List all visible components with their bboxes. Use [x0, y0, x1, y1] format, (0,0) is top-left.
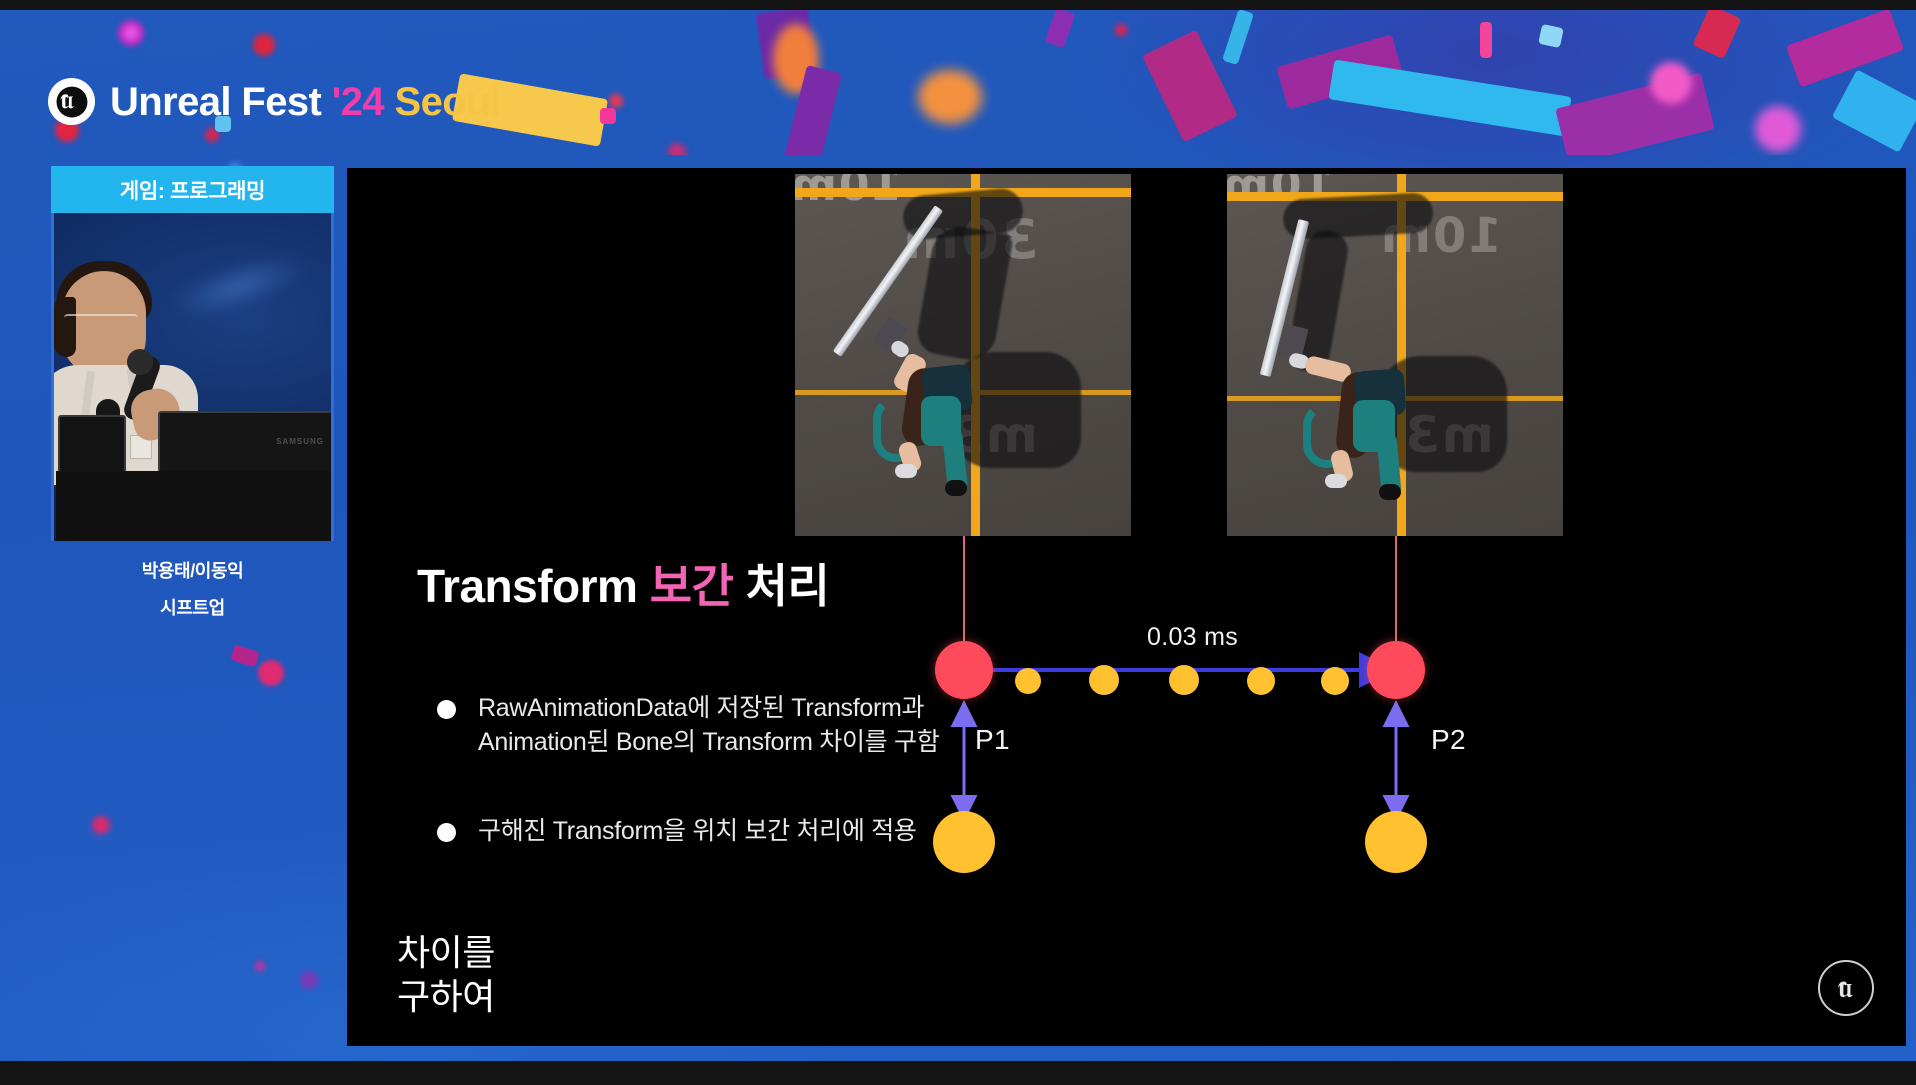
interpolated-node [1089, 665, 1119, 695]
slide-title-highlight: 보간 [650, 560, 734, 612]
character-shadow [951, 352, 1081, 468]
character-boot [945, 480, 967, 496]
gameplay-frame-2: 10m 10m m3 [1227, 174, 1563, 536]
presenter-credits: 박용태/이동익 시프트업 [51, 541, 334, 620]
unreal-u-icon [48, 78, 95, 125]
pose-node-p1 [933, 811, 995, 873]
character-boot [895, 464, 917, 478]
subtitle-caption: 차이를 구하여 [383, 923, 507, 1029]
presenter-hair-side [54, 297, 76, 357]
presenter-glasses [64, 314, 138, 327]
pose-label-p1: P1 [975, 724, 1010, 756]
interpolated-node [1321, 667, 1349, 695]
presenter-video: SAMSUNG [51, 213, 334, 541]
caption-line-2: 구하여 [397, 975, 495, 1019]
interpolated-node [1247, 667, 1275, 695]
pose-node-p2 [1365, 811, 1427, 873]
keyframe-node-start [935, 641, 993, 699]
unreal-engine-icon [1818, 960, 1874, 1016]
slide-title-tail: 처리 [733, 560, 829, 612]
event-brand-lockup: Unreal Fest '24 Seoul [48, 78, 500, 125]
brand-text-unreal-fest: Unreal Fest [110, 80, 321, 124]
microphone-head [127, 349, 153, 375]
bullet-text: RawAnimationData에 저장된 Transform과 Animati… [478, 691, 957, 760]
list-item: RawAnimationData에 저장된 Transform과 Animati… [437, 691, 957, 760]
screenshot-root: Unreal Fest '24 Seoul 게임: 프로그래밍 [0, 0, 1916, 1085]
slide-title: Transform 보간 처리 [417, 563, 829, 609]
character-boot [1379, 484, 1401, 500]
bottom-letterbox-bar [0, 1061, 1916, 1073]
bullet-dot-icon [437, 700, 456, 719]
character-boot [1325, 474, 1347, 488]
laptop-left [58, 415, 126, 473]
conference-frame: Unreal Fest '24 Seoul 게임: 프로그래밍 [0, 10, 1916, 1073]
pose-label-p2: P2 [1431, 724, 1466, 756]
duration-label: 0.03 ms [1147, 623, 1238, 652]
presenter-company: 시프트업 [51, 594, 334, 620]
stage-desk [56, 471, 333, 541]
track-chip-label: 게임: 프로그래밍 [120, 175, 265, 205]
brand-wordmark: Unreal Fest '24 Seoul [110, 82, 500, 122]
laptop-right: SAMSUNG [158, 411, 334, 473]
keyframe-node-end [1367, 641, 1425, 699]
interpolated-node [1169, 665, 1199, 695]
presenter-names: 박용태/이동익 [51, 557, 334, 583]
gameplay-image-1: 10m 30m m3 [795, 174, 1131, 536]
presentation-slide: Transform 보간 처리 RawAnimationData에 저장된 Tr… [347, 168, 1906, 1046]
brand-text-city: Seoul [395, 80, 501, 124]
brand-text-year: '24 [332, 80, 384, 124]
presenter-rail: 게임: 프로그래밍 SAMSUNG [51, 166, 334, 620]
gameplay-frame-1: 10m 30m m3 [795, 174, 1131, 536]
caption-line-1: 차이를 [397, 931, 495, 975]
slide-title-main: Transform [417, 560, 650, 612]
laptop-brand-mark: SAMSUNG [276, 437, 324, 446]
slide-bullet-list: RawAnimationData에 저장된 Transform과 Animati… [437, 691, 957, 848]
list-item: 구해진 Transform을 위치 보간 처리에 적용 [437, 814, 957, 848]
bullet-dot-icon [437, 823, 456, 842]
gameplay-image-2: 10m 10m m3 [1227, 174, 1563, 536]
bullet-text: 구해진 Transform을 위치 보간 처리에 적용 [478, 814, 917, 848]
top-letterbox-bar [0, 0, 1916, 10]
interpolated-node [1015, 668, 1041, 694]
track-chip: 게임: 프로그래밍 [51, 166, 334, 213]
